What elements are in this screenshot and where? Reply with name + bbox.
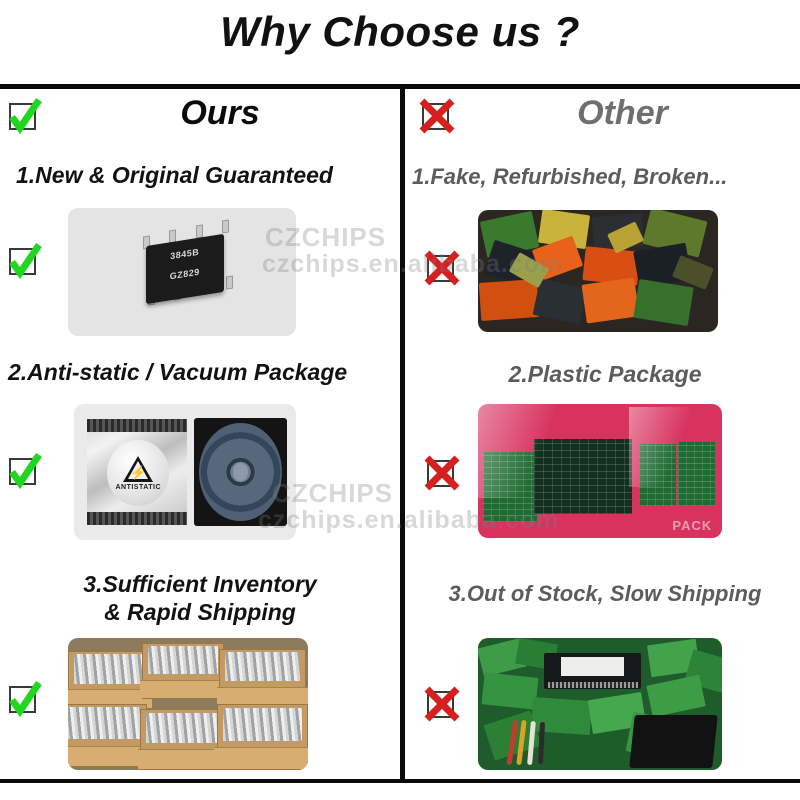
column-header-other: Other bbox=[405, 92, 800, 144]
chip-body: 3845B GZ829 bbox=[146, 234, 224, 304]
row-1-other-label: 1.Fake, Refurbished, Broken... bbox=[412, 165, 798, 190]
bottom-divider bbox=[0, 779, 800, 783]
chip-marking-line2: GZ829 bbox=[152, 264, 217, 284]
cross-glyph bbox=[424, 250, 460, 286]
black-scrap-box bbox=[629, 715, 718, 768]
row-2-ours-label: 2.Anti-static / Vacuum Package bbox=[8, 360, 396, 386]
row-3-other-label: 3.Out of Stock, Slow Shipping bbox=[412, 582, 798, 607]
row-2-cross-icon bbox=[424, 455, 460, 491]
row-1-cross-icon bbox=[424, 250, 460, 286]
row-3-check-icon bbox=[6, 681, 42, 717]
check-glyph bbox=[6, 453, 42, 489]
row-2-ours-photo: ⚡ ANTISTATIC bbox=[74, 404, 296, 540]
column-header-ours: Ours bbox=[0, 92, 400, 144]
row-3-ours-label-line2: & Rapid Shipping bbox=[30, 600, 370, 626]
pack-overlay-text: PACK bbox=[672, 518, 712, 533]
row-2-check-icon bbox=[6, 453, 42, 489]
check-glyph bbox=[6, 243, 42, 279]
infographic-page: Why Choose us ? Ours Other 1.New & Origi… bbox=[0, 0, 800, 800]
row-3-cross-icon bbox=[424, 686, 460, 722]
row-3-ours-photo bbox=[68, 638, 308, 770]
row-1-ours-label: 1.New & Original Guaranteed bbox=[16, 163, 394, 189]
row-1-check-icon bbox=[6, 243, 42, 279]
row-1-other-photo bbox=[478, 210, 718, 332]
page-title: Why Choose us ? bbox=[0, 8, 800, 56]
check-glyph bbox=[6, 681, 42, 717]
chip-marking-line1: 3845B bbox=[152, 244, 217, 264]
row-1-ours-photo: 3845B GZ829 bbox=[68, 208, 296, 336]
component-reel bbox=[194, 418, 287, 527]
antistatic-caption: ANTISTATIC bbox=[107, 484, 169, 491]
black-module bbox=[544, 653, 642, 690]
row-2-other-photo: PACK bbox=[478, 404, 722, 538]
row-3-other-photo bbox=[478, 638, 722, 770]
cross-glyph bbox=[424, 455, 460, 491]
bag-disc: ⚡ ANTISTATIC bbox=[107, 440, 169, 506]
row-3-ours-label-line1: 3.Sufficient Inventory bbox=[30, 572, 370, 598]
cross-glyph bbox=[424, 686, 460, 722]
antistatic-bag: ⚡ ANTISTATIC bbox=[87, 419, 187, 525]
column-label-other: Other bbox=[405, 94, 800, 133]
column-divider bbox=[400, 84, 405, 781]
lightning-bolt-icon: ⚡ bbox=[130, 466, 146, 479]
row-2-other-label: 2.Plastic Package bbox=[412, 362, 798, 388]
column-label-ours: Ours bbox=[0, 94, 400, 133]
